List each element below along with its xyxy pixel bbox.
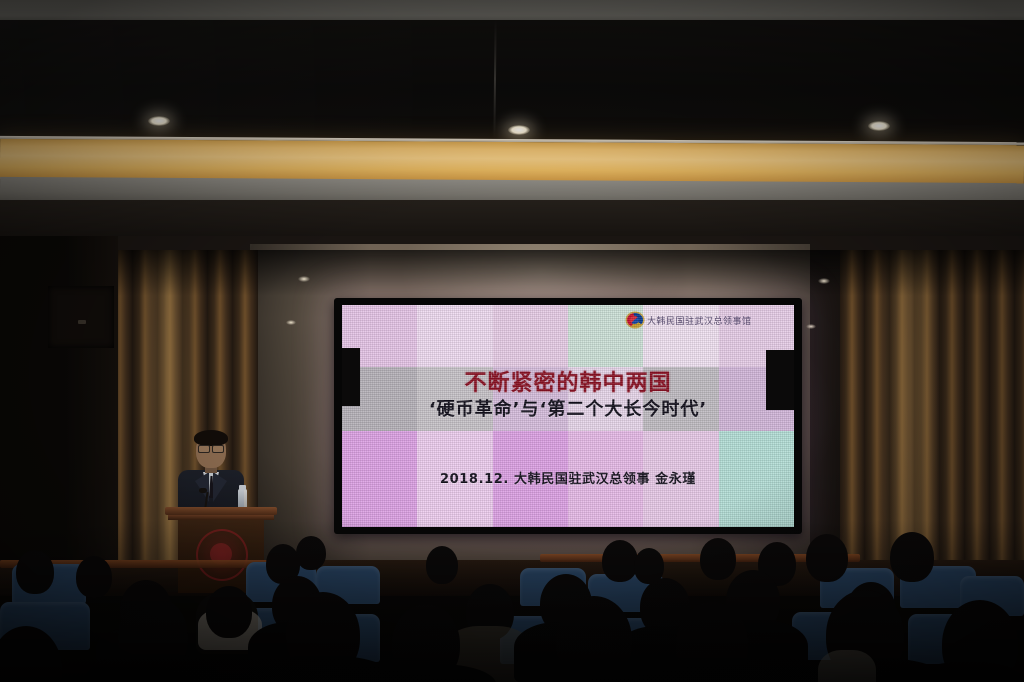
- audience-head: [206, 586, 252, 638]
- downlight-left-icon: [148, 116, 170, 126]
- screen-bezel-notch-right: [766, 350, 794, 410]
- downlight-right-icon: [868, 121, 890, 131]
- slide-title: 不断紧密的韩中两国: [342, 365, 794, 397]
- audience-head: [806, 534, 848, 582]
- led-screen[interactable]: 大韩民国驻武汉总领事馆 不断紧密的韩中两国 ‘硬币革命’与‘第二个大长今时代’ …: [342, 305, 794, 527]
- glasses-icon: [198, 445, 224, 451]
- wall-spotlight-right: [818, 278, 830, 284]
- audience-head: [16, 550, 54, 594]
- audience-head: [426, 546, 458, 584]
- podium-desktop-edge: [168, 515, 274, 520]
- audience-area: [0, 530, 1024, 682]
- presenter-hair: [194, 430, 228, 446]
- slide-header: 大韩民国驻武汉总领事馆: [627, 311, 787, 329]
- podium-desktop: [165, 507, 277, 515]
- upper-wall-shadow: [0, 250, 1024, 296]
- wall-spotlight-right-2: [806, 324, 816, 329]
- slide-footer: 2018.12. 大韩民国驻武汉总领事 金永瑾: [342, 468, 794, 487]
- slide-header-text: 大韩民国驻武汉总领事馆: [647, 314, 752, 327]
- microphone-icon: [199, 488, 207, 493]
- screen-bezel-notch-left: [342, 348, 360, 406]
- audience-cream-coat: [818, 650, 876, 682]
- audience-head: [700, 538, 736, 580]
- wall-speaker-icon: [48, 286, 114, 348]
- audience-head: [890, 532, 934, 582]
- downlight-center-icon: [508, 125, 530, 135]
- audience-head: [76, 556, 112, 598]
- audience-head: [602, 540, 638, 582]
- audience-head: [296, 536, 326, 570]
- slide-subtitle: ‘硬币革命’与‘第二个大长今时代’: [342, 395, 794, 421]
- led-block: [417, 305, 492, 367]
- korean-national-emblem-icon: [627, 313, 643, 327]
- auditorium-photo: 大韩民国驻武汉总领事馆 不断紧密的韩中两国 ‘硬币革命’与‘第二个大长今时代’ …: [0, 0, 1024, 682]
- water-bottle-cap: [239, 485, 246, 490]
- wall-spotlight-left: [298, 276, 310, 282]
- led-block: [493, 305, 568, 367]
- speaker-indicator-icon: [78, 320, 86, 324]
- wall-spotlight-left-2: [286, 320, 296, 325]
